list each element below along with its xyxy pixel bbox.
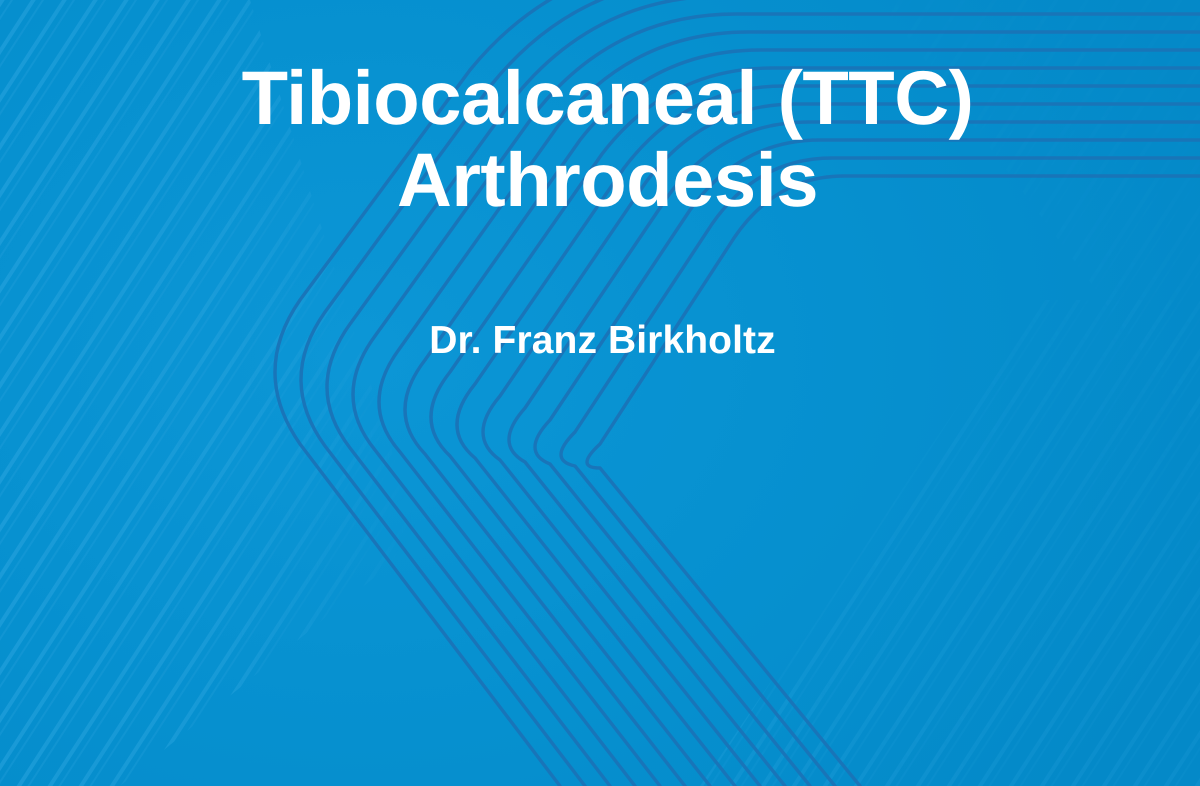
page-title: Tibiocalcaneal (TTC) Arthrodesis xyxy=(0,58,1200,222)
title-container: Tibiocalcaneal (TTC) Arthrodesis xyxy=(0,58,1200,222)
subtitle-container: Dr. Franz Birkholtz xyxy=(0,318,1200,365)
slide-content: Tibiocalcaneal (TTC) Arthrodesis Dr. Fra… xyxy=(0,0,1200,786)
title-slide: Tibiocalcaneal (TTC) Arthrodesis Dr. Fra… xyxy=(0,0,1200,786)
presenter-name: Dr. Franz Birkholtz xyxy=(0,318,1200,365)
